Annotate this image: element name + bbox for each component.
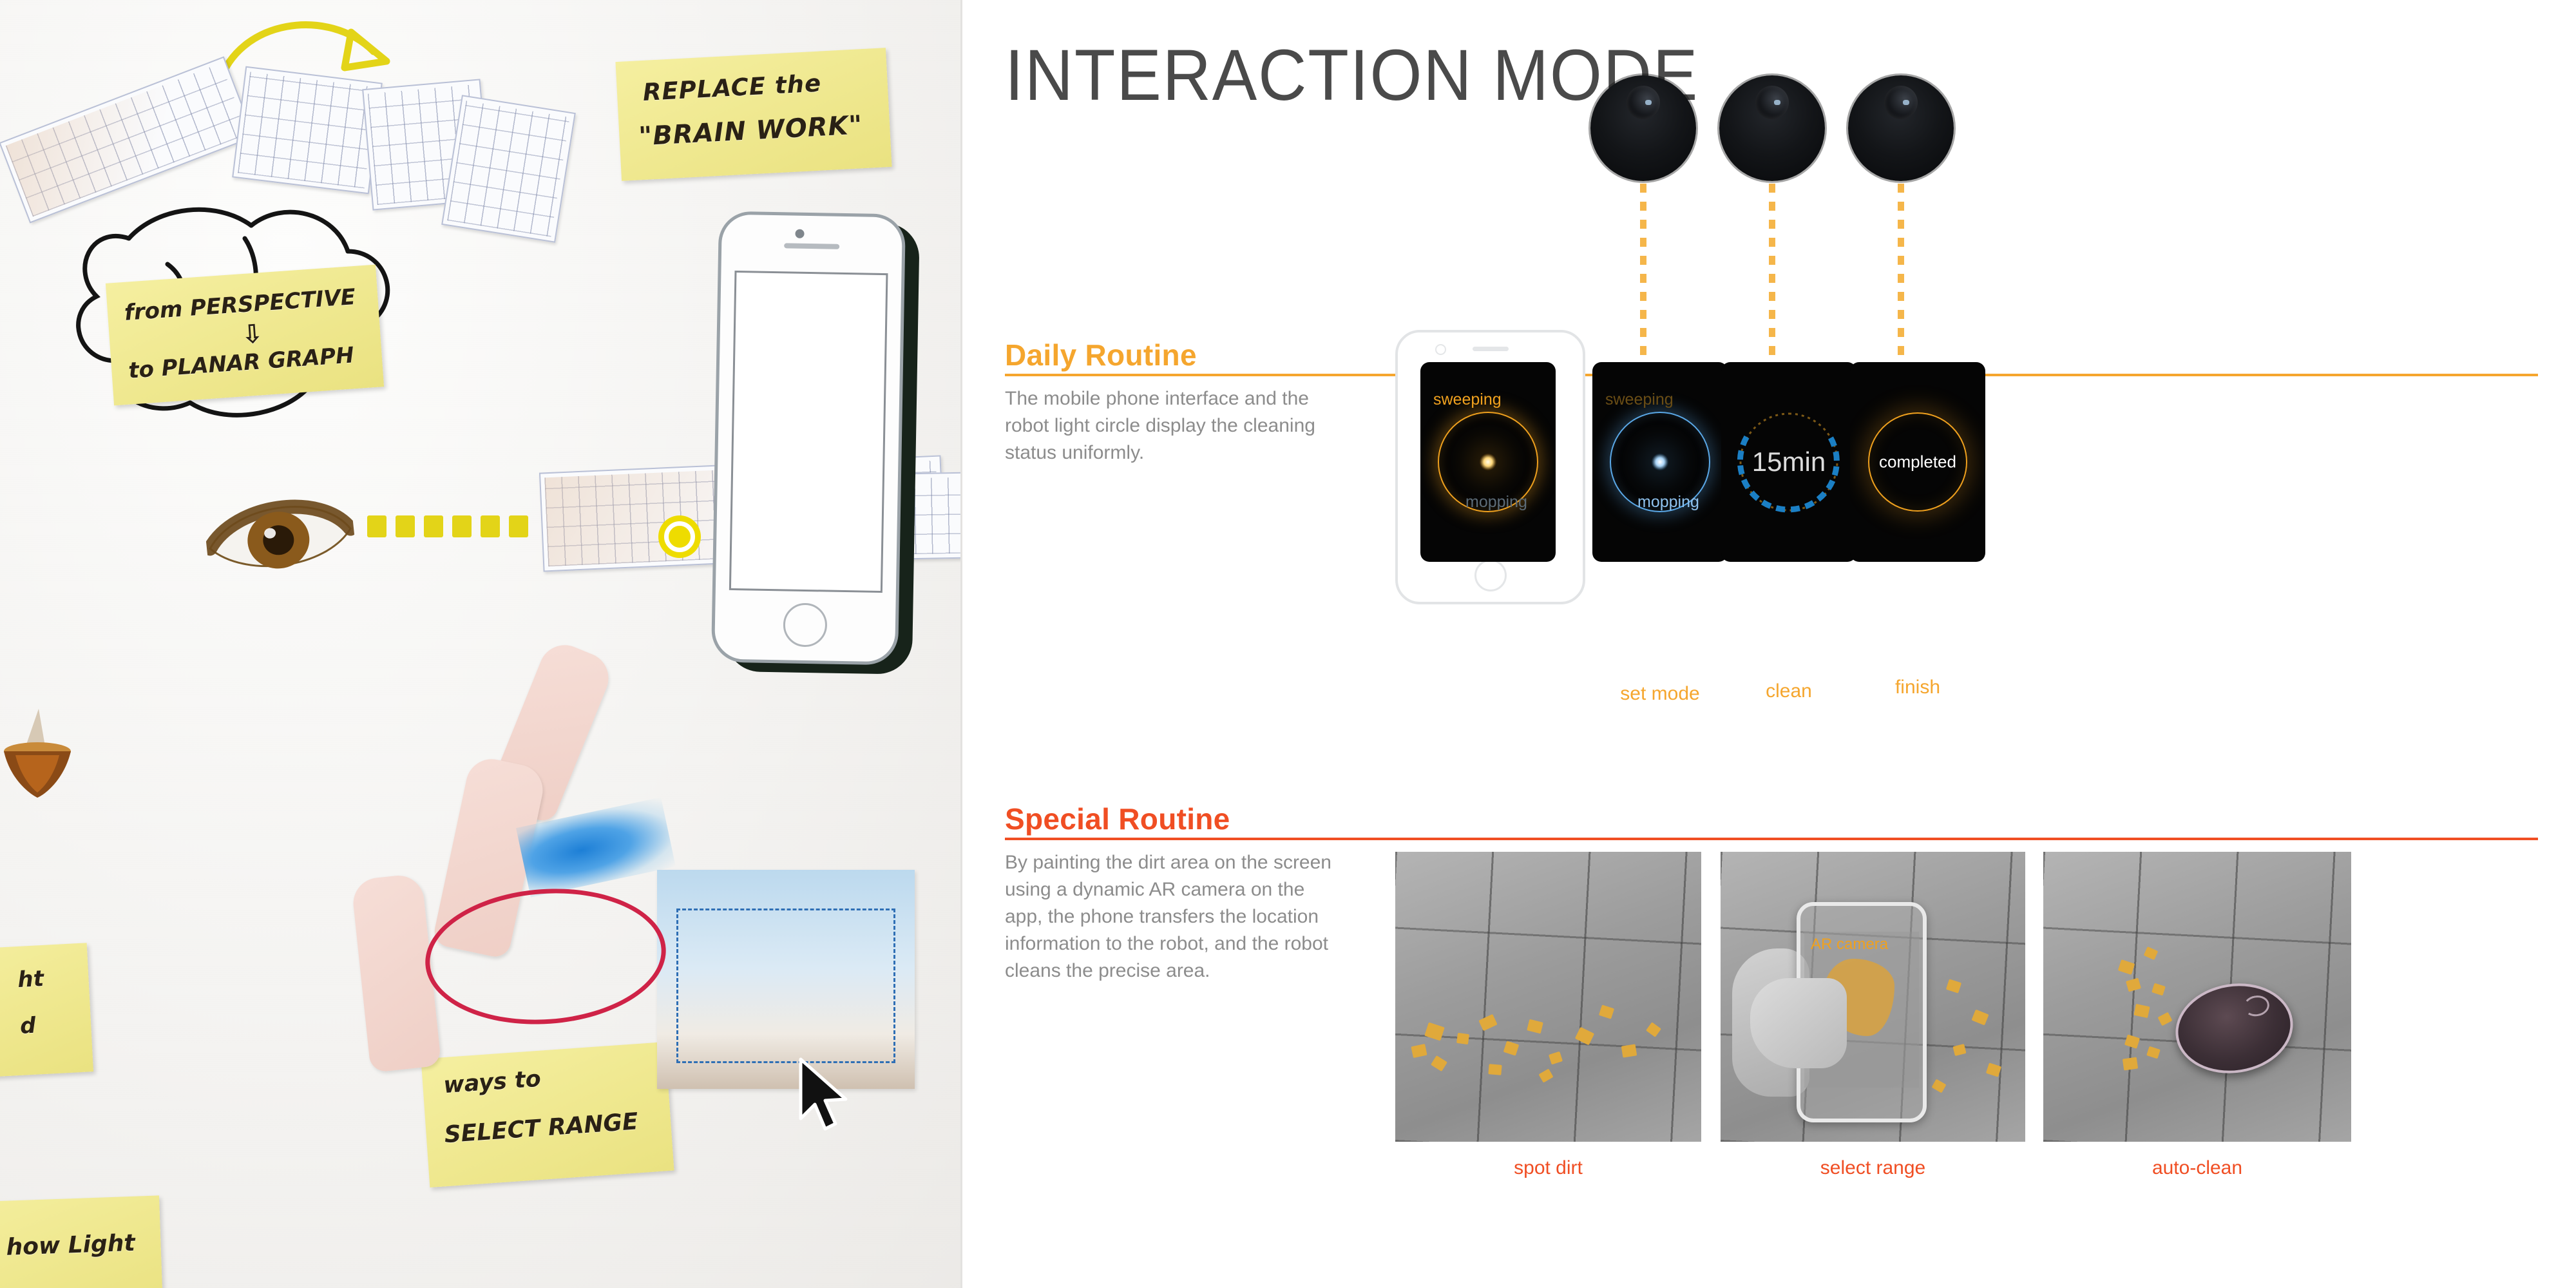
sticky-note-edge-cropped: ht d	[0, 943, 93, 1080]
floor-plan-cutout	[441, 95, 576, 242]
daily-routine-heading: Daily Routine	[1005, 338, 1197, 372]
drawn-phone-cutout	[711, 211, 906, 666]
app-screen-sweeping[interactable]: sweeping mopping	[1420, 362, 1556, 562]
app-screen-cleaning[interactable]: 15min	[1721, 362, 1856, 562]
special-routine-rule	[1005, 838, 2538, 840]
robot-vacuum-icon	[1719, 75, 1825, 181]
front-camera-icon	[1435, 344, 1446, 355]
step-caption-set-mode: set mode	[1592, 683, 1728, 705]
mode-label-sweeping[interactable]: sweeping	[1433, 390, 1502, 409]
mouse-cursor-icon	[796, 1057, 854, 1134]
sticky-line-1: REPLACE the	[642, 69, 822, 106]
photo-auto-clean	[2043, 852, 2351, 1142]
mode-label-sweeping[interactable]: sweeping	[1605, 390, 1674, 409]
daily-routine-description: The mobile phone interface and the robot…	[1005, 385, 1343, 466]
sticky-line-2: d	[19, 1013, 36, 1039]
sticky-note-how-light: how Light	[0, 1195, 163, 1288]
dashed-connector	[1898, 184, 1904, 374]
content-panel: INTERACTION MODE Daily Routine The mobil…	[962, 0, 2576, 1288]
sticky-line-1: how Light	[6, 1230, 135, 1261]
photo-caption-select-range: select range	[1721, 1157, 2025, 1179]
sticky-line-2: to PLANAR GRAPH	[128, 342, 355, 383]
robot-vacuum-icon	[1848, 75, 1954, 181]
sticky-note-select-range: ways to SELECT RANGE	[421, 1042, 674, 1187]
step-caption-finish: finish	[1850, 677, 1985, 698]
special-routine-heading: Special Routine	[1005, 802, 1230, 836]
app-screen-mopping[interactable]: sweeping mopping	[1592, 362, 1728, 562]
sightline-dashes	[367, 515, 554, 539]
sticky-line-2: "BRAIN WORK"	[638, 110, 863, 151]
spinning-top-cutout	[0, 696, 116, 838]
photo-caption-spot-dirt: spot dirt	[1395, 1157, 1701, 1179]
dashed-connector	[1769, 184, 1775, 374]
slide-page: REPLACE the "BRAIN WORK" from PERSPECTIV…	[0, 0, 2576, 1288]
dashed-connector	[1640, 184, 1646, 374]
ar-camera-label: AR camera	[1811, 936, 1888, 954]
sticky-line-2: SELECT RANGE	[443, 1108, 639, 1148]
sticky-note-replace-brain-work: REPLACE the "BRAIN WORK"	[615, 48, 892, 181]
completed-label: completed	[1879, 452, 1956, 472]
dashed-selection-rectangle	[676, 908, 895, 1063]
mode-label-mopping[interactable]: mopping	[1637, 493, 1699, 512]
photo-spot-dirt	[1395, 852, 1701, 1142]
timer-value: 15min	[1752, 447, 1826, 477]
photo-select-range: AR camera	[1721, 852, 2025, 1142]
thumb-cutout	[1750, 978, 1847, 1068]
mode-label-mopping[interactable]: mopping	[1465, 493, 1527, 512]
center-glow	[1480, 454, 1496, 470]
down-arrow-icon: ⇩	[240, 319, 264, 350]
step-caption-clean: clean	[1721, 680, 1856, 702]
home-button[interactable]	[1474, 559, 1507, 591]
earpiece-speaker	[1473, 347, 1509, 351]
sticky-note-perspective-planar: from PERSPECTIVE ⇩ to PLANAR GRAPH	[106, 265, 384, 406]
sticky-line-1: ht	[17, 966, 44, 993]
sticky-line-1: from PERSPECTIVE	[124, 284, 356, 326]
eye-cutout-icon	[202, 482, 359, 593]
sky-photo-cutout	[657, 870, 915, 1089]
page-title: INTERACTION MODE	[1005, 34, 1699, 117]
tap-target-icon	[658, 515, 701, 558]
collage-panel: REPLACE the "BRAIN WORK" from PERSPECTIV…	[0, 0, 962, 1288]
app-screen-completed[interactable]: completed	[1850, 362, 1985, 562]
robot-vacuum-icon	[1590, 75, 1696, 181]
center-glow	[1652, 454, 1668, 470]
photo-caption-auto-clean: auto-clean	[2043, 1157, 2351, 1179]
sticky-line-1: ways to	[443, 1066, 542, 1099]
special-routine-description: By painting the dirt area on the screen …	[1005, 849, 1343, 985]
